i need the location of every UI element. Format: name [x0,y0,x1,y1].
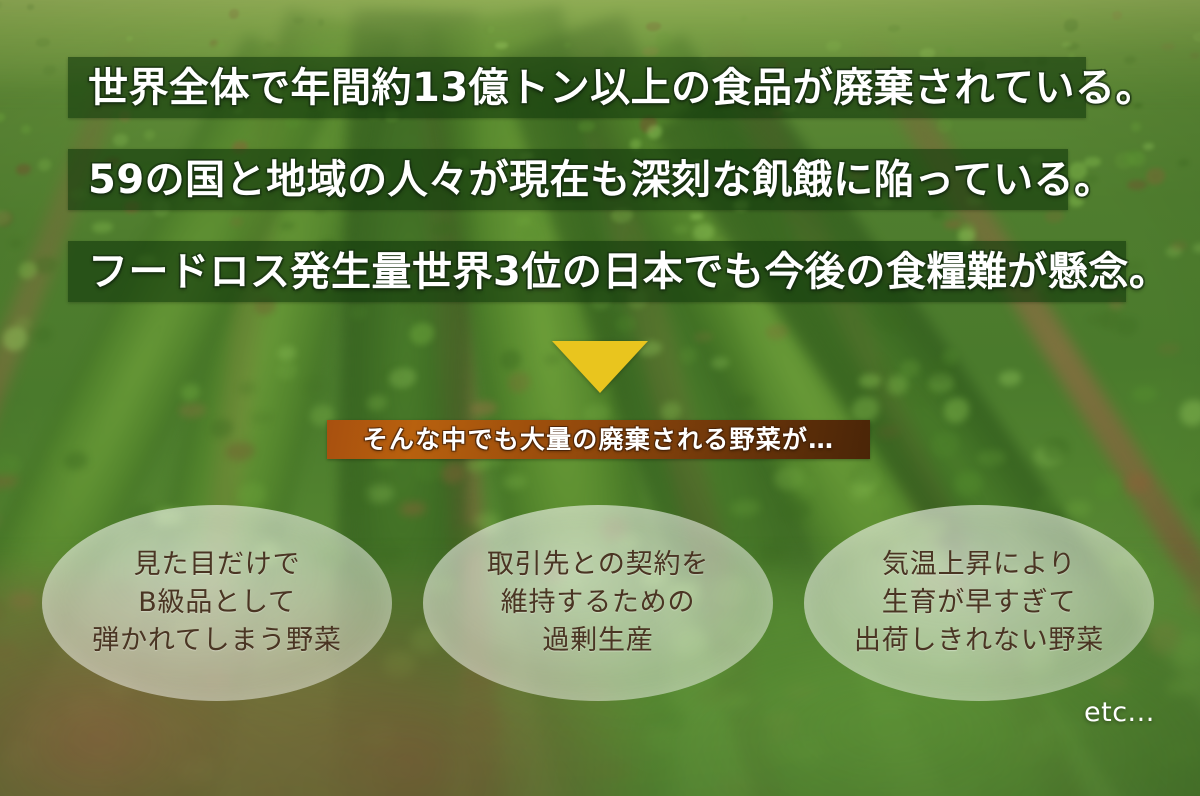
headline-banner-3: フードロス発生量世界3位の日本でも今後の食糧難が懸念。 [68,241,1126,302]
reason-ellipse-2-line-2: 維持するための [501,584,696,622]
reason-ellipse-1-line-2: B級品として [138,584,296,622]
reason-ellipse-1-line-3: 弾かれてしまう野菜 [92,622,341,660]
reason-ellipse-2-line-3: 過剰生産 [542,622,653,660]
headline-banner-3-text: フードロス発生量世界3位の日本でも今後の食糧難が懸念。 [68,252,1169,292]
reason-ellipse-3: 気温上昇により 生育が早すぎて 出荷しきれない野菜 [804,505,1154,701]
headline-banner-1-text: 世界全体で年間約13億トン以上の食品が廃棄されている。 [68,68,1156,108]
sub-banner: そんな中でも大量の廃棄される野菜が… [327,420,870,459]
headline-banner-1: 世界全体で年間約13億トン以上の食品が廃棄されている。 [68,57,1086,118]
etc-label: etc... [1084,697,1155,728]
headline-banner-2-text: 59の国と地域の人々が現在も深刻な飢餓に陥っている。 [68,160,1115,200]
sub-banner-text: そんな中でも大量の廃棄される野菜が… [363,427,835,452]
reason-ellipse-2: 取引先との契約を 維持するための 過剰生産 [423,505,773,701]
reason-ellipse-1: 見た目だけで B級品として 弾かれてしまう野菜 [42,505,392,701]
headline-banner-2: 59の国と地域の人々が現在も深刻な飢餓に陥っている。 [68,149,1068,210]
reason-ellipse-3-line-3: 出荷しきれない野菜 [854,622,1104,660]
reason-ellipse-3-line-2: 生育が早すぎて [882,584,1077,622]
triangle-down-icon [552,341,648,393]
reason-ellipse-2-line-1: 取引先との契約を [487,546,709,584]
reason-ellipse-3-line-1: 気温上昇により [882,546,1076,584]
infographic-canvas: 世界全体で年間約13億トン以上の食品が廃棄されている。 59の国と地域の人々が現… [0,0,1200,796]
reason-ellipse-1-line-1: 見た目だけで [134,546,301,584]
